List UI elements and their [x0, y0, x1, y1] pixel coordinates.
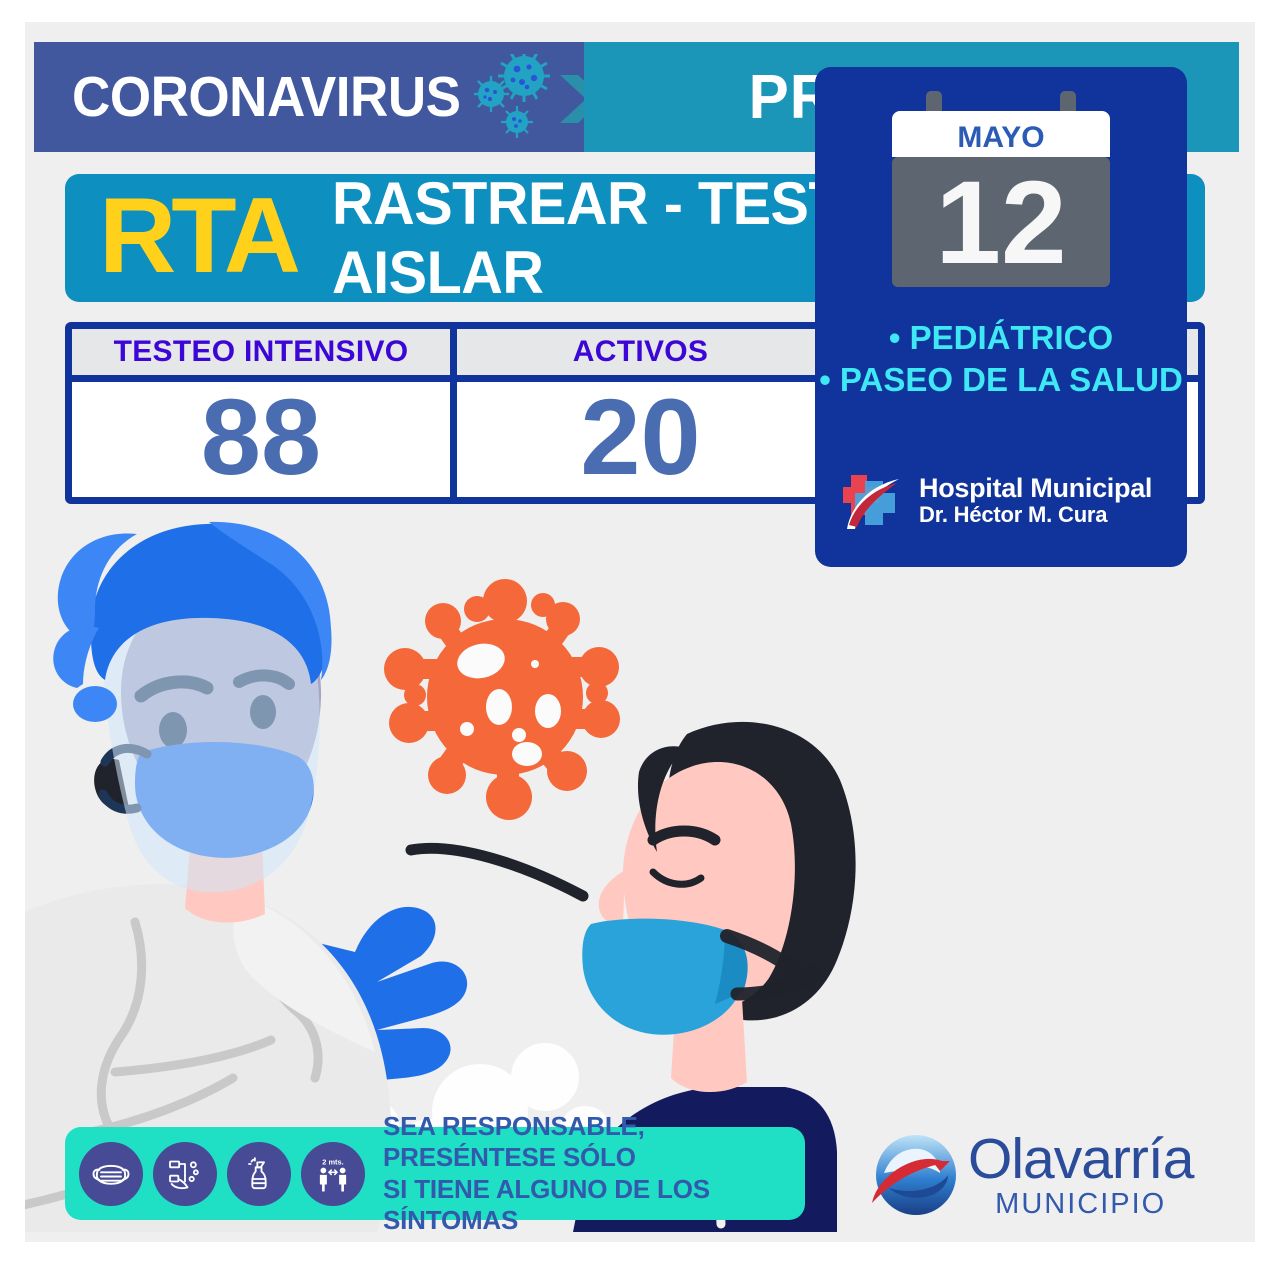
- healthcare-worker-illustration: [25, 522, 391, 1232]
- nasal-swab-icon: [411, 848, 583, 896]
- prevention-message-line2: SI TIENE ALGUNO DE LOS SÍNTOMAS: [383, 1174, 805, 1236]
- hospital-logo: Hospital Municipal Dr. Héctor M. Cura: [841, 467, 1161, 533]
- olavarria-wordmark: Olavarría MUNICIPIO: [968, 1131, 1193, 1219]
- stat-card-testeo: TESTEO INTENSIVO 88: [72, 329, 450, 497]
- social-distance-caption: 2 mts.: [322, 1157, 343, 1166]
- olavarria-logo: Olavarría MUNICIPIO: [870, 1120, 1220, 1230]
- calendar-icon: MAYO 12: [886, 85, 1116, 295]
- stat-value: 20: [457, 382, 824, 497]
- calendar-card: MAYO 12 • PEDIÁTRICO • PASEO DE LA SALUD…: [815, 67, 1187, 567]
- stat-label: TESTEO INTENSIVO: [72, 329, 450, 375]
- calendar-day-number: 12: [935, 157, 1066, 289]
- brand-subtitle: MUNICIPIO: [968, 1190, 1193, 1219]
- orange-virus-illustration: [384, 579, 620, 820]
- prevention-message: SEA RESPONSABLE, PRESÉNTESE SÓLO SI TIEN…: [383, 1111, 805, 1236]
- calendar-location-item: • PEDIÁTRICO: [815, 317, 1187, 359]
- virus-icon: [474, 54, 564, 142]
- prevention-icon-group: 2 mts.: [79, 1142, 365, 1206]
- stat-label: ACTIVOS: [457, 329, 824, 375]
- poster-canvas: CORONAVIRUS: [25, 22, 1255, 1242]
- calendar-month-label: MAYO: [957, 121, 1044, 154]
- prevention-banner: 2 mts.: [65, 1127, 805, 1220]
- header-left-panel: CORONAVIRUS: [34, 42, 584, 152]
- prevention-message-line1: SEA RESPONSABLE, PRESÉNTESE SÓLO: [383, 1111, 805, 1173]
- rta-logo: RTA: [99, 182, 296, 289]
- calendar-location-item: • PASEO DE LA SALUD: [815, 359, 1187, 401]
- poster-root: CORONAVIRUS: [0, 0, 1280, 1280]
- stat-card-activos: ACTIVOS 20: [457, 329, 824, 497]
- brand-name: Olavarría: [968, 1131, 1193, 1188]
- hospital-line1: Hospital Municipal: [919, 474, 1152, 503]
- olavarria-swoosh-icon: [870, 1129, 962, 1221]
- calendar-locations: • PEDIÁTRICO • PASEO DE LA SALUD: [815, 317, 1187, 401]
- hospital-name: Hospital Municipal Dr. Héctor M. Cura: [919, 474, 1152, 527]
- hospital-line2: Dr. Héctor M. Cura: [919, 503, 1152, 527]
- header-coronavirus-title: CORONAVIRUS: [72, 64, 461, 130]
- face-mask-icon: [79, 1142, 143, 1206]
- hand-washing-icon: [153, 1142, 217, 1206]
- stat-value: 88: [72, 382, 450, 497]
- social-distance-icon: 2 mts.: [301, 1142, 365, 1206]
- hospital-cross-icon: [841, 467, 907, 533]
- spray-bottle-icon: [227, 1142, 291, 1206]
